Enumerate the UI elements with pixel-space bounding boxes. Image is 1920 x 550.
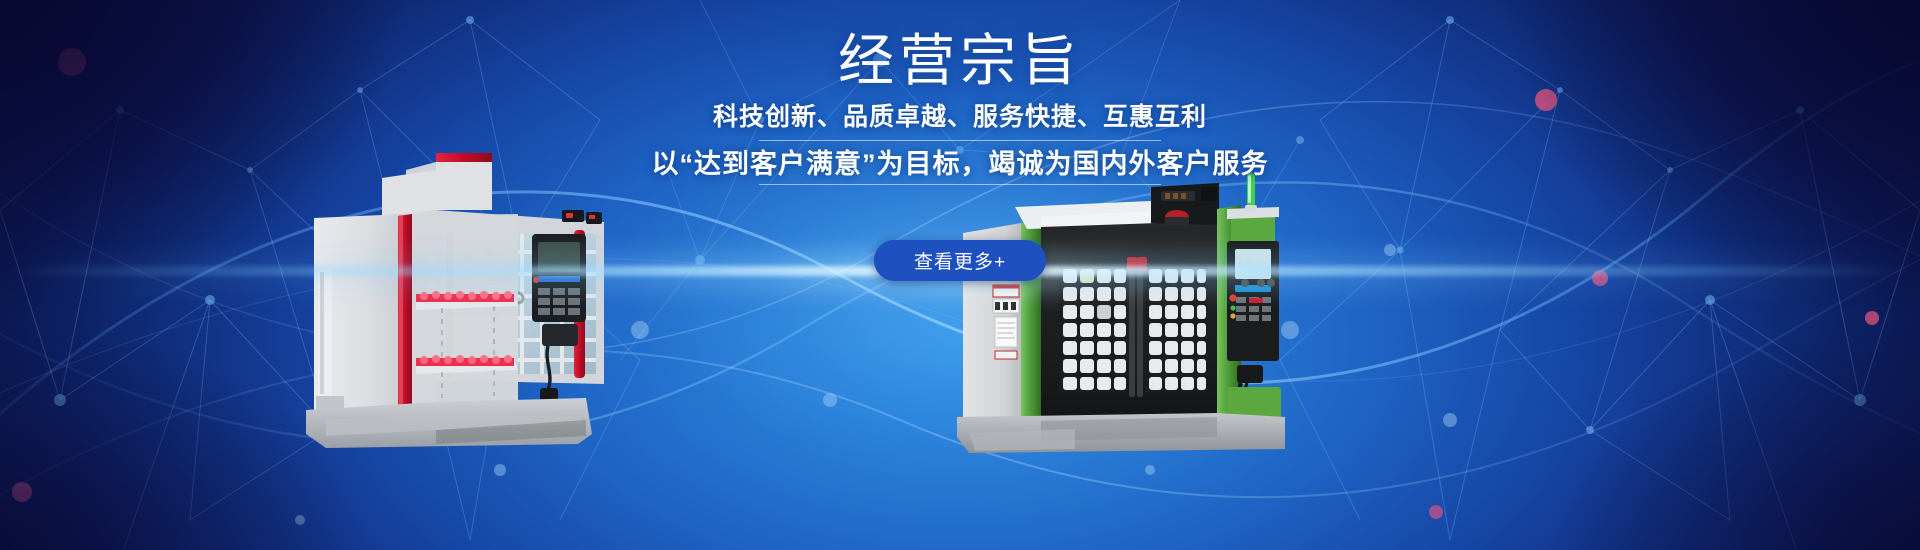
hero-banner: 经营宗旨 科技创新、品质卓越、服务快捷、互惠互利 以“达到客户满意”为目标，竭诚… [0, 0, 1920, 550]
view-more-button[interactable]: 查看更多+ [874, 240, 1046, 281]
banner-content: 经营宗旨 科技创新、品质卓越、服务快捷、互惠互利 以“达到客户满意”为目标，竭诚… [0, 0, 1920, 550]
banner-subtitle: 科技创新、品质卓越、服务快捷、互惠互利 [0, 100, 1920, 134]
divider-top [759, 140, 1161, 141]
banner-title: 经营宗旨 [0, 28, 1920, 94]
divider-bottom [759, 184, 1161, 185]
banner-tagline: 以“达到客户满意”为目标，竭诚为国内外客户服务 [0, 146, 1920, 182]
